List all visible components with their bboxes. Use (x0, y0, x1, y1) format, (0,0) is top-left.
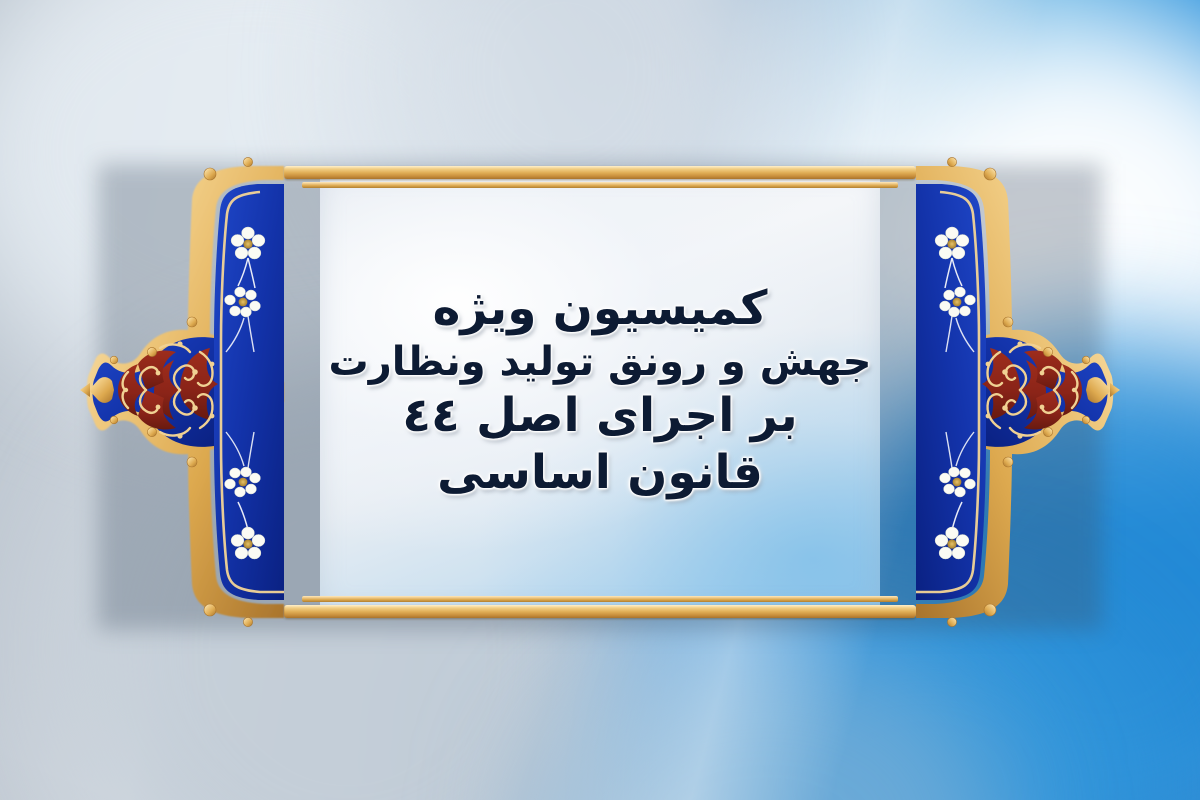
title-line-3: بر اجرای اصل ٤٤ (402, 388, 797, 443)
banner-stage: کمیسیون ویژه جهش و رونق تولید ونظارت بر … (0, 0, 1200, 800)
title-line-4: قانون اساسی (437, 445, 763, 500)
gold-bar-top (284, 166, 916, 179)
gold-bar-bottom (284, 605, 916, 618)
gold-rail-bottom (302, 596, 898, 602)
title-line-2: جهش و رونق تولید ونظارت (329, 339, 872, 386)
title-line-1: کمیسیون ویژه (433, 281, 768, 336)
ornamental-frame: کمیسیون ویژه جهش و رونق تولید ونظارت بر … (88, 152, 1112, 632)
banner-title: کمیسیون ویژه جهش و رونق تولید ونظارت بر … (324, 186, 876, 596)
right-cartouche (912, 152, 1112, 632)
left-cartouche (88, 152, 288, 632)
